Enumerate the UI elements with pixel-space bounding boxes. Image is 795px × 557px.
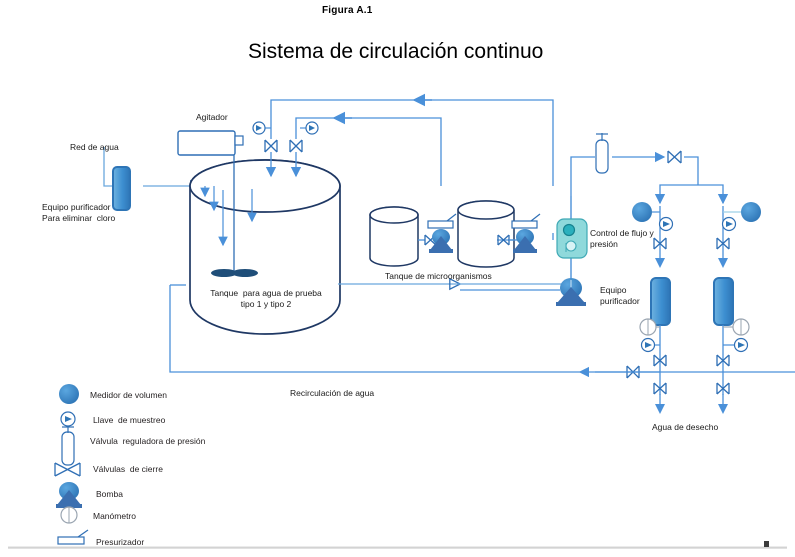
page-marker (764, 541, 769, 547)
label-control-flujo-presion: Control de flujo y presión (590, 228, 654, 250)
presurizador (428, 214, 456, 228)
sampling-tap-icon[interactable] (723, 218, 736, 231)
legend-label-pressure-regulator: Válvula reguladora de presión (90, 436, 205, 446)
shutoff-valve-icon[interactable] (290, 140, 302, 152)
pipe-purifier-header (660, 185, 723, 203)
pressure-regulator-icon[interactable] (596, 133, 608, 173)
label-tanque-agua-prueba: Tanque para agua de prueba tipo 1 y tipo… (196, 288, 336, 310)
sampling-tap-icon[interactable] (253, 122, 271, 134)
bomba (429, 229, 453, 253)
tanque-microorganismos-2 (458, 201, 514, 267)
diagram-canvas: Figura A.1 Sistema de circulación contin… (0, 0, 795, 557)
label-red-de-agua: Red de agua (70, 142, 119, 153)
controlador-flujo-presion[interactable] (557, 196, 587, 290)
sampling-tap-icon[interactable] (300, 122, 318, 134)
filtro-cloro (113, 167, 130, 210)
footer-rule (8, 546, 787, 549)
shutoff-valve-icon[interactable] (668, 151, 681, 163)
legend-label-manometer: Manómetro (93, 511, 136, 521)
bomba-principal (460, 278, 586, 306)
bomba (513, 229, 537, 253)
shutoff-valve-icon[interactable] (265, 140, 277, 152)
label-tanque-microorganismos: Tanque de microorganismos (385, 271, 492, 282)
sampling-tap-icon[interactable] (660, 218, 673, 231)
legend-label-shutoff-valve: Válvulas de cierre (93, 464, 163, 474)
label-agua-desecho: Agua de desecho (652, 422, 718, 433)
pipe-controller-to-regulator (571, 157, 698, 196)
volume-meter-icon (632, 202, 660, 222)
sampling-tap-icon[interactable] (642, 339, 661, 352)
legend-label-volume-meter: Medidor de volumen (90, 390, 167, 400)
legend-label-pump: Bomba (96, 489, 123, 499)
shutoff-valve-icon[interactable] (654, 383, 666, 414)
presurizador (512, 214, 540, 228)
sampling-tap-icon[interactable] (723, 339, 748, 352)
label-recirculacion-agua: Recirculación de agua (290, 388, 374, 399)
columna-purificadora-2 (714, 206, 733, 395)
label-equipo-purificador: Equipo purificador (600, 285, 640, 307)
tanque-microorganismos-1 (370, 207, 418, 266)
legend-label-sampling-tap: Llave de muestreo (93, 415, 165, 425)
shutoff-valve-icon[interactable] (717, 383, 729, 414)
motor-agitador (178, 131, 235, 155)
label-agitador: Agitador (196, 112, 228, 123)
label-equipo-purificador-cloro: Equipo purificador Para eliminar cloro (42, 202, 115, 224)
